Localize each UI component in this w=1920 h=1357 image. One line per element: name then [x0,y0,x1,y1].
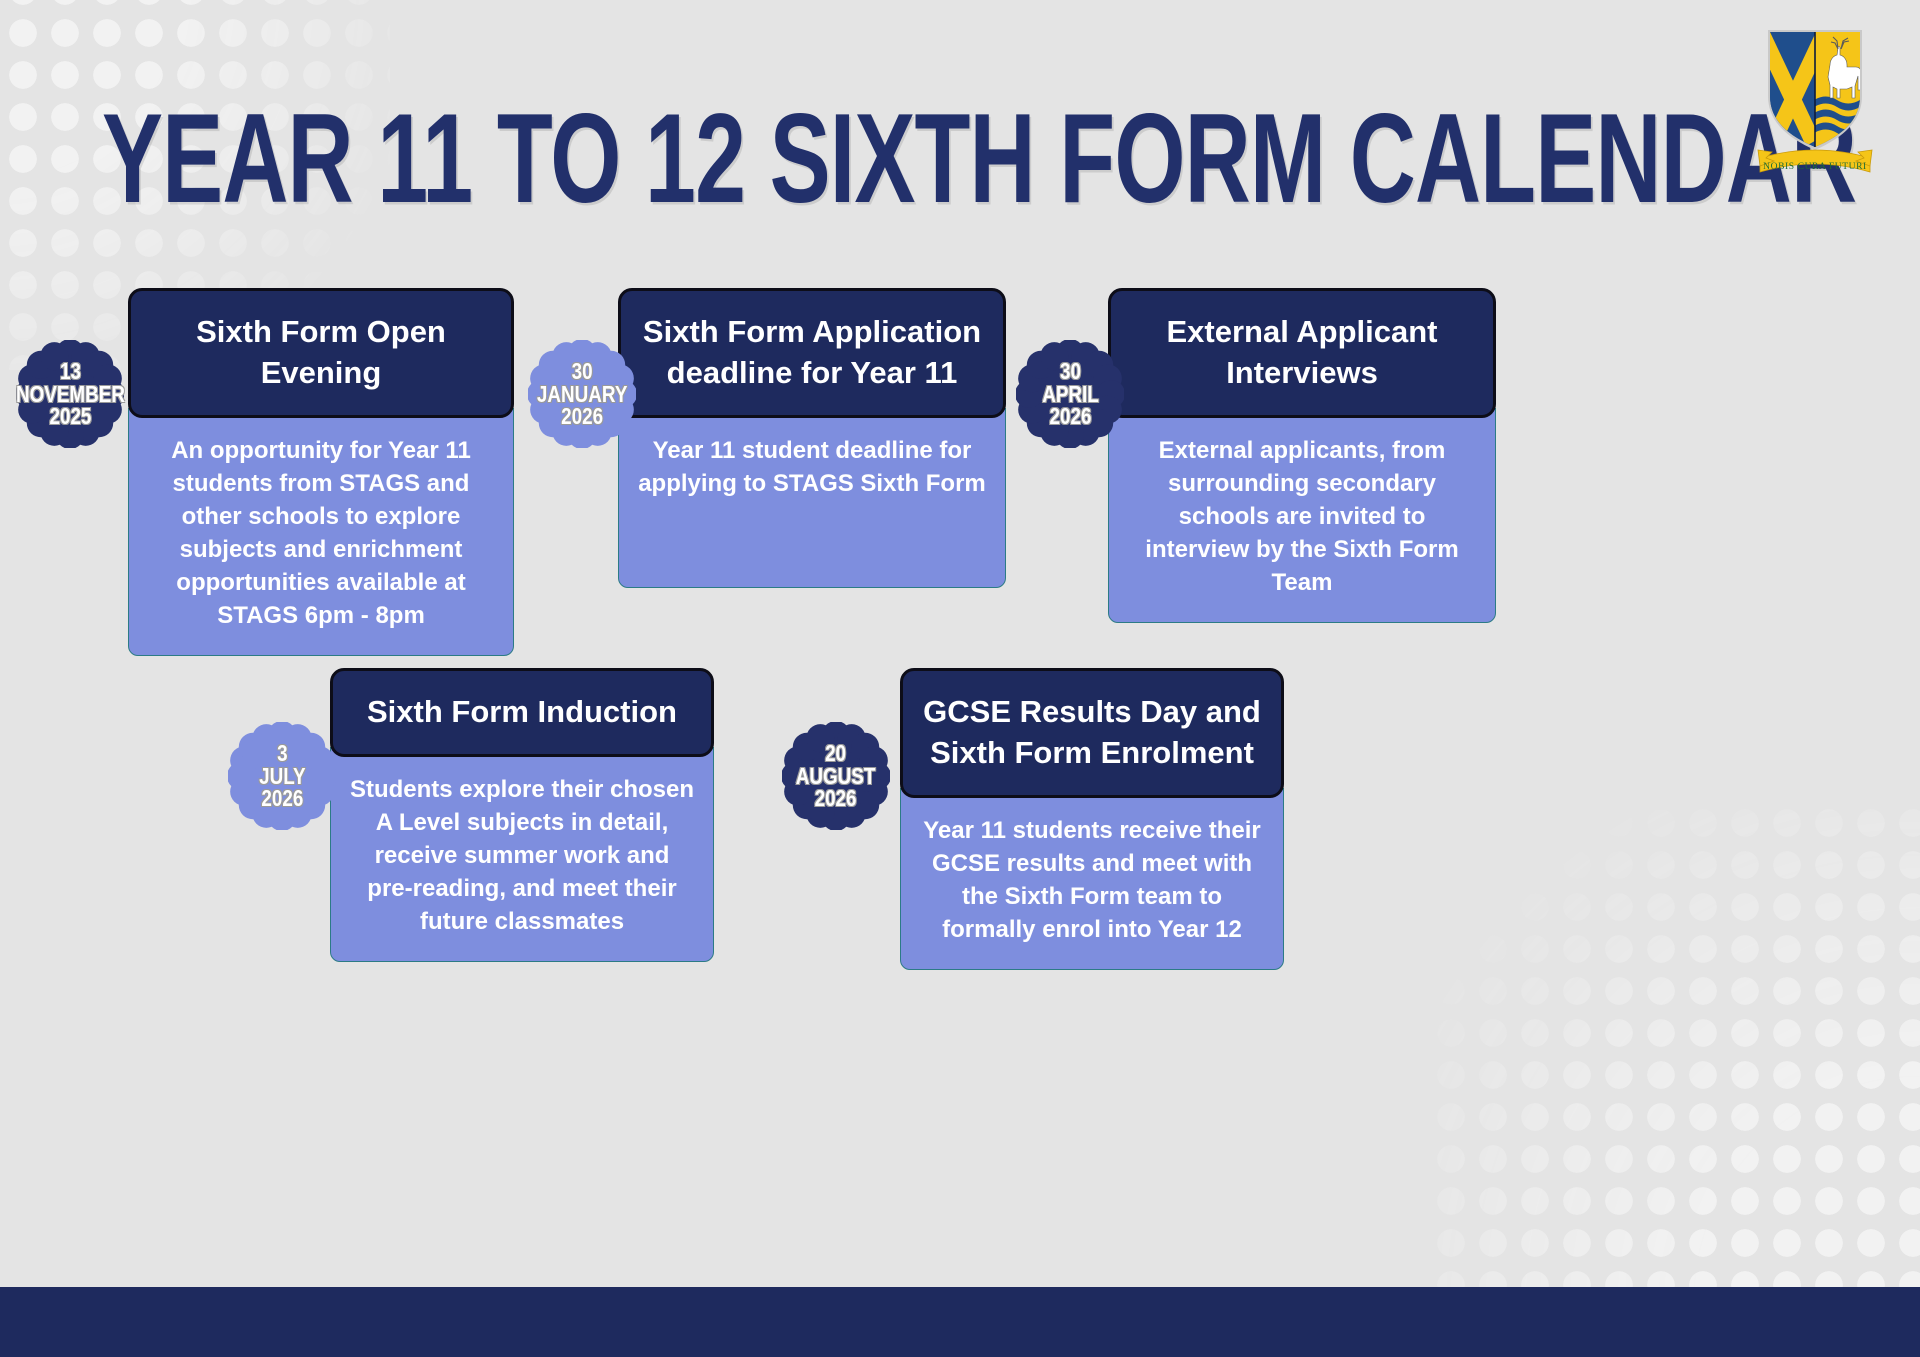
event-card-body: Year 11 student deadline for applying to… [618,408,1006,588]
date-badge-13-november: 13 NOVEMBER 2025 [16,340,124,448]
badge-day: 3 [259,742,305,765]
date-badge-text: 30 JANUARY 2026 [537,360,627,428]
event-card-title: Sixth Form Induction [330,668,714,757]
event-card-body: An opportunity for Year 11 students from… [128,408,514,655]
event-card-title: GCSE Results Day and Sixth Form Enrolmen… [900,668,1284,798]
event-card-body: Year 11 students receive their GCSE resu… [900,788,1284,970]
badge-day: 20 [796,742,876,765]
event-card-title: Sixth Form Open Evening [128,288,514,418]
date-badge-3-july: 3 JULY 2026 [228,722,336,830]
page-title: YEAR 11 TO 12 SIXTH FORM CALENDAR [102,96,1598,223]
badge-month: NOVEMBER [16,383,125,406]
sixth-form-calendar-poster: YEAR 11 TO 12 SIXTH FORM CALENDAR [0,0,1920,1357]
badge-month: JANUARY [537,383,627,406]
badge-day: 13 [16,360,125,383]
date-badge-text: 30 APRIL 2026 [1042,360,1099,428]
event-card-title: Sixth Form Application deadline for Year… [618,288,1006,418]
event-card-title: External Applicant Interviews [1108,288,1496,418]
badge-year: 2025 [16,405,125,428]
badge-year: 2026 [259,787,305,810]
event-card-body: Students explore their chosen A Level su… [330,747,714,961]
badge-year: 2026 [796,787,876,810]
badge-day: 30 [1042,360,1099,383]
date-badge-text: 13 NOVEMBER 2025 [16,360,125,428]
date-badge-30-january: 30 JANUARY 2026 [528,340,636,448]
school-crest-icon: NOBIS CURA FUTURI [1750,18,1880,188]
dot-pattern-bottom-right-icon [1430,802,1920,1322]
date-badge-text: 20 AUGUST 2026 [796,742,876,810]
footer-bar [0,1287,1920,1357]
event-card-application-deadline: Sixth Form Application deadline for Year… [618,288,1006,588]
badge-year: 2026 [1042,405,1099,428]
badge-year: 2026 [537,405,627,428]
date-badge-text: 3 JULY 2026 [259,742,305,810]
date-badge-30-april: 30 APRIL 2026 [1016,340,1124,448]
badge-month: APRIL [1042,383,1099,406]
event-card-gcse-results-day: GCSE Results Day and Sixth Form Enrolmen… [900,668,1284,970]
event-card-body: External applicants, from surrounding se… [1108,408,1496,622]
badge-month: AUGUST [796,765,876,788]
date-badge-20-august: 20 AUGUST 2026 [782,722,890,830]
crest-motto-text: NOBIS CURA FUTURI [1763,162,1867,172]
badge-day: 30 [537,360,627,383]
event-card-open-evening: Sixth Form Open Evening An opportunity f… [128,288,514,656]
event-card-external-interviews: External Applicant Interviews External a… [1108,288,1496,623]
event-card-induction: Sixth Form Induction Students explore th… [330,668,714,962]
badge-month: JULY [259,765,305,788]
